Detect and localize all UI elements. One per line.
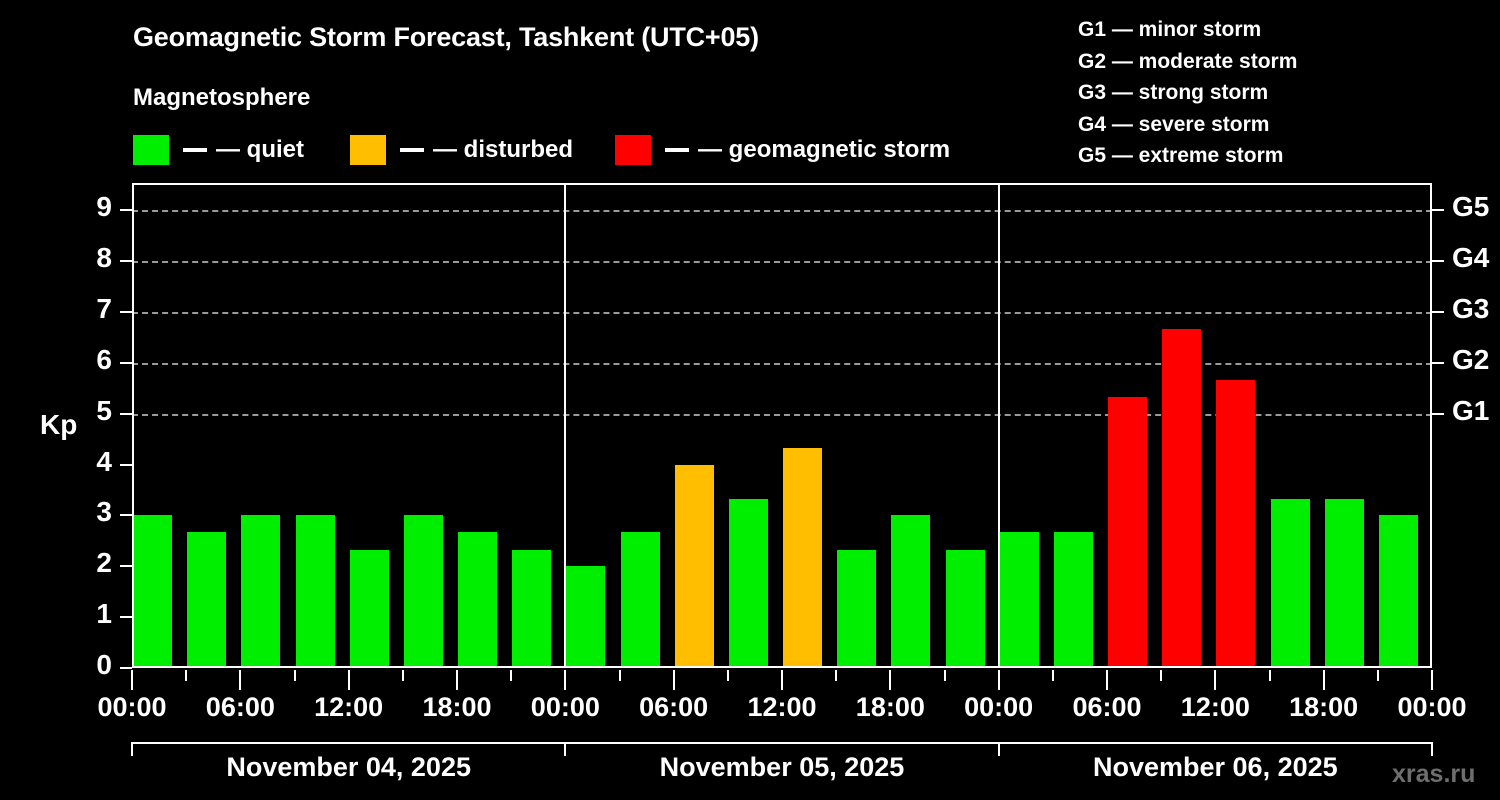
legend-label-disturbed: — disturbed <box>433 136 573 164</box>
legend-label-quiet: — quiet <box>216 136 304 164</box>
day-label: November 06, 2025 <box>999 752 1432 783</box>
x-tick <box>781 670 783 690</box>
legend-item-quiet: — quiet <box>133 135 304 165</box>
legend-dash-icon <box>400 148 424 152</box>
bar <box>675 465 714 668</box>
x-tick <box>1160 670 1162 681</box>
disturbed-swatch-icon <box>350 135 386 165</box>
legend-label-storm: — geomagnetic storm <box>698 136 950 164</box>
day-label: November 04, 2025 <box>132 752 565 783</box>
legend-item-disturbed: — disturbed <box>350 135 573 165</box>
x-tick <box>1052 670 1054 681</box>
g-axis-label-G1: G1 <box>1452 395 1489 427</box>
bar <box>458 532 497 668</box>
x-tick <box>185 670 187 681</box>
y-axis-title: Kp <box>40 409 77 441</box>
y-tick-label-8: 8 <box>76 242 112 274</box>
watermark: xras.ru <box>1392 760 1475 789</box>
g-scale-legend: G1 — minor storm G2 — moderate storm G3 … <box>1078 14 1297 172</box>
y-tick-3 <box>120 514 132 516</box>
chart-plot-area <box>132 183 1432 668</box>
y-tick-8 <box>120 260 132 262</box>
x-tick <box>1323 670 1325 690</box>
bar <box>1108 397 1147 668</box>
g-axis-label-G3: G3 <box>1452 293 1489 325</box>
x-tick <box>294 670 296 681</box>
g-scale-item-g2: G2 — moderate storm <box>1078 46 1297 78</box>
bar <box>1216 380 1255 668</box>
bar <box>1271 499 1310 668</box>
g-tick-G3 <box>1432 311 1444 313</box>
color-legend: — quiet — disturbed — geomagnetic storm <box>133 132 950 168</box>
x-tick <box>727 670 729 681</box>
y-tick-5 <box>120 413 132 415</box>
x-tick <box>673 670 675 690</box>
gridline-kp-9 <box>132 210 1432 212</box>
x-tick <box>944 670 946 681</box>
x-tick <box>131 670 133 690</box>
g-scale-item-g3: G3 — strong storm <box>1078 77 1297 109</box>
x-tick <box>1269 670 1271 681</box>
bar <box>241 515 280 668</box>
gridline-kp-8 <box>132 261 1432 263</box>
y-tick-6 <box>120 362 132 364</box>
y-tick-2 <box>120 565 132 567</box>
x-tick <box>1214 670 1216 690</box>
bar <box>566 566 605 668</box>
gridline-kp-6 <box>132 363 1432 365</box>
x-tick <box>510 670 512 681</box>
bar <box>621 532 660 668</box>
bar <box>1379 515 1418 668</box>
x-tick <box>1106 670 1108 690</box>
x-tick <box>1431 670 1433 690</box>
x-tick <box>835 670 837 681</box>
y-tick-label-0: 0 <box>76 649 112 681</box>
y-tick-4 <box>120 464 132 466</box>
bar <box>404 515 443 668</box>
g-tick-G4 <box>1432 260 1444 262</box>
g-tick-G5 <box>1432 209 1444 211</box>
y-tick-label-7: 7 <box>76 293 112 325</box>
legend-dash-icon <box>183 148 207 152</box>
x-tick <box>998 670 1000 690</box>
g-scale-item-g4: G4 — severe storm <box>1078 109 1297 141</box>
g-tick-G2 <box>1432 362 1444 364</box>
bar <box>133 515 172 668</box>
g-scale-item-g1: G1 — minor storm <box>1078 14 1297 46</box>
x-tick-label: 00:00 <box>1362 692 1500 723</box>
g-axis-label-G4: G4 <box>1452 242 1489 274</box>
y-tick-label-6: 6 <box>76 344 112 376</box>
g-scale-item-g5: G5 — extreme storm <box>1078 140 1297 172</box>
g-axis-label-G5: G5 <box>1452 191 1489 223</box>
g-axis-label-G2: G2 <box>1452 344 1489 376</box>
x-tick <box>1377 670 1379 681</box>
y-tick-label-4: 4 <box>76 446 112 478</box>
day-separator <box>998 183 1000 668</box>
x-tick <box>619 670 621 681</box>
legend-dash-icon <box>665 148 689 152</box>
day-separator <box>564 183 566 668</box>
x-tick <box>348 670 350 690</box>
bar <box>891 515 930 668</box>
bar <box>296 515 335 668</box>
y-tick-7 <box>120 311 132 313</box>
bar <box>837 550 876 668</box>
g-tick-G1 <box>1432 413 1444 415</box>
y-tick-0 <box>120 667 132 669</box>
chart-subtitle: Magnetosphere <box>133 84 310 112</box>
legend-item-storm: — geomagnetic storm <box>615 135 950 165</box>
gridline-kp-7 <box>132 312 1432 314</box>
bar <box>350 550 389 668</box>
y-tick-label-9: 9 <box>76 191 112 223</box>
y-tick-1 <box>120 616 132 618</box>
bar <box>729 499 768 668</box>
y-tick-label-3: 3 <box>76 496 112 528</box>
day-label: November 05, 2025 <box>565 752 998 783</box>
bar <box>187 532 226 668</box>
bar <box>1054 532 1093 668</box>
y-tick-label-5: 5 <box>76 395 112 427</box>
y-tick-label-1: 1 <box>76 598 112 630</box>
x-tick <box>239 670 241 690</box>
y-tick-label-2: 2 <box>76 547 112 579</box>
y-tick-9 <box>120 209 132 211</box>
bar <box>783 448 822 668</box>
storm-swatch-icon <box>615 135 651 165</box>
x-tick <box>456 670 458 690</box>
x-tick <box>564 670 566 690</box>
bar <box>1000 532 1039 668</box>
quiet-swatch-icon <box>133 135 169 165</box>
bar <box>512 550 551 668</box>
page-title: Geomagnetic Storm Forecast, Tashkent (UT… <box>133 22 759 53</box>
bar <box>946 550 985 668</box>
bar <box>1162 329 1201 668</box>
bar <box>1325 499 1364 668</box>
x-tick <box>402 670 404 681</box>
x-tick <box>889 670 891 690</box>
